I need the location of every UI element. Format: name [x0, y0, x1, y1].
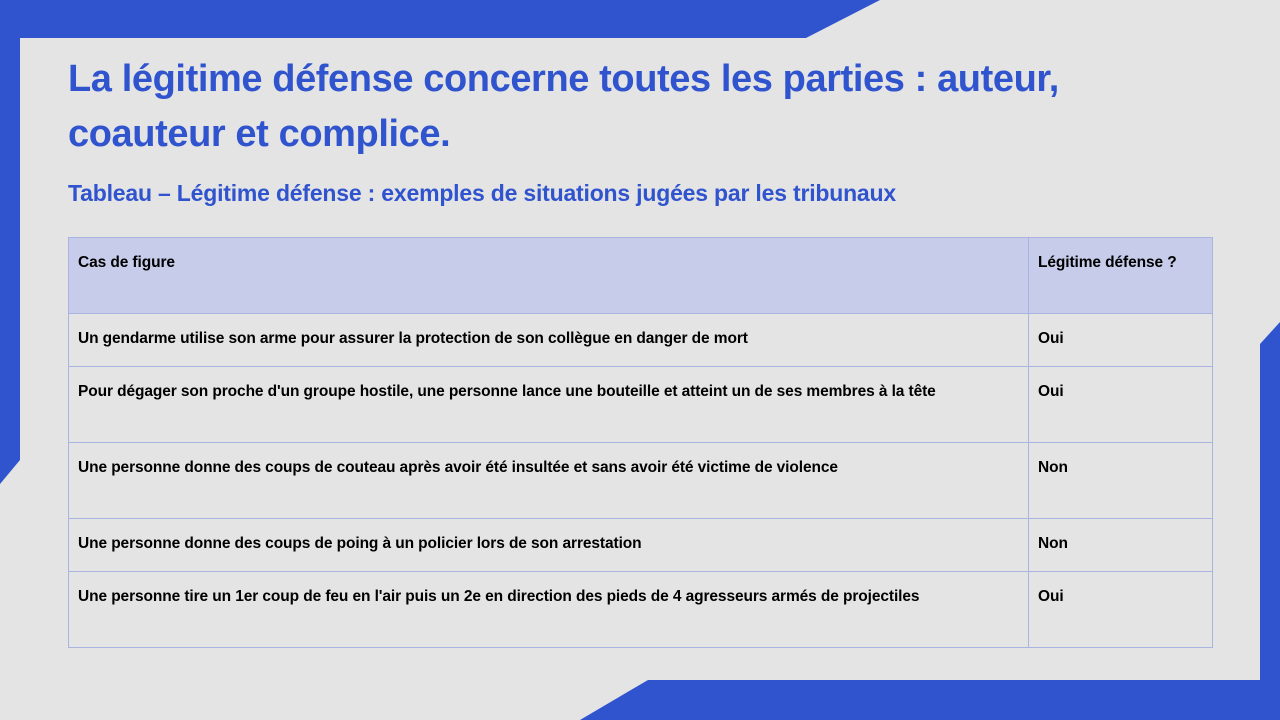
table-row: Pour dégager son proche d'un groupe host…	[69, 366, 1213, 442]
table-body: Un gendarme utilise son arme pour assure…	[69, 314, 1213, 647]
column-header-case: Cas de figure	[69, 238, 1029, 314]
cell-answer: Oui	[1029, 314, 1213, 367]
cell-answer: Oui	[1029, 366, 1213, 442]
decorative-shape-top-left	[0, 0, 880, 38]
cell-answer: Non	[1029, 442, 1213, 518]
situations-table: Cas de figure Légitime défense ? Un gend…	[68, 237, 1213, 647]
table-header-row: Cas de figure Légitime défense ?	[69, 238, 1213, 314]
cell-answer: Non	[1029, 518, 1213, 571]
slide-content: La légitime défense concerne toutes les …	[68, 52, 1214, 648]
table-row: Une personne donne des coups de poing à …	[69, 518, 1213, 571]
decorative-shape-left-edge	[0, 0, 20, 484]
slide-canvas: La légitime défense concerne toutes les …	[0, 0, 1280, 720]
cell-case: Un gendarme utilise son arme pour assure…	[69, 314, 1029, 367]
table-header: Cas de figure Légitime défense ?	[69, 238, 1213, 314]
column-header-answer: Légitime défense ?	[1029, 238, 1213, 314]
cell-case: Une personne tire un 1er coup de feu en …	[69, 571, 1029, 647]
cell-case: Une personne donne des coups de poing à …	[69, 518, 1029, 571]
cell-case: Pour dégager son proche d'un groupe host…	[69, 366, 1029, 442]
decorative-shape-bottom-right	[560, 680, 1280, 720]
table-row: Une personne donne des coups de couteau …	[69, 442, 1213, 518]
decorative-shape-right-edge	[1260, 322, 1280, 682]
cell-answer: Oui	[1029, 571, 1213, 647]
table-row: Une personne tire un 1er coup de feu en …	[69, 571, 1213, 647]
table-row: Un gendarme utilise son arme pour assure…	[69, 314, 1213, 367]
page-title: La légitime défense concerne toutes les …	[68, 52, 1214, 162]
cell-case: Une personne donne des coups de couteau …	[69, 442, 1029, 518]
table-caption: Tableau – Légitime défense : exemples de…	[68, 180, 1214, 207]
